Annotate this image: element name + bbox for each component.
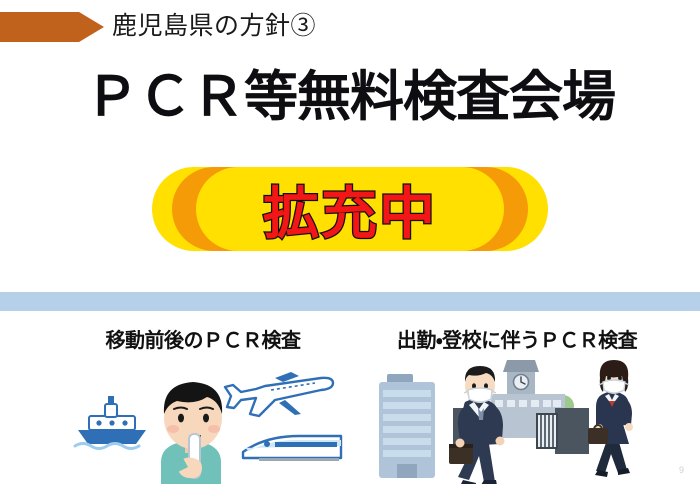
ferry-boat-icon (75, 396, 146, 449)
commuting-workers-and-students (352, 356, 682, 484)
slide-canvas: 鹿児島県の方針③ ＰＣＲ等無料検査会場 拡充中 移動前後のＰＣＲ検査 (0, 0, 700, 485)
header-title: 鹿児島県の方針③ (112, 8, 316, 46)
banner-label: 拡充中 (152, 167, 548, 251)
panel-travel: 移動前後のＰＣＲ検査 (48, 326, 358, 485)
orange-chevron-tag-icon (0, 12, 104, 42)
shinkansen-train-icon (243, 436, 341, 461)
office-building-icon (379, 374, 435, 478)
status-banner: 拡充中 (152, 167, 548, 251)
panel-commute-caption: 出勤・登校に伴うＰＣＲ検査 (352, 326, 682, 354)
page-title: ＰＣＲ等無料検査会場 (0, 60, 700, 134)
man-taking-saliva-test (161, 382, 222, 484)
saliva-pcr-test-with-travel-icons (48, 356, 358, 484)
page-number: 9 (679, 465, 684, 475)
slide-header: 鹿児島県の方針③ (0, 8, 700, 46)
panel-travel-caption: 移動前後のＰＣＲ検査 (48, 326, 358, 354)
panel-commute: 出勤・登校に伴うＰＣＲ検査 (352, 326, 682, 485)
masked-schoolgirl (588, 360, 633, 477)
airplane-icon (225, 372, 333, 416)
section-divider (0, 292, 700, 311)
